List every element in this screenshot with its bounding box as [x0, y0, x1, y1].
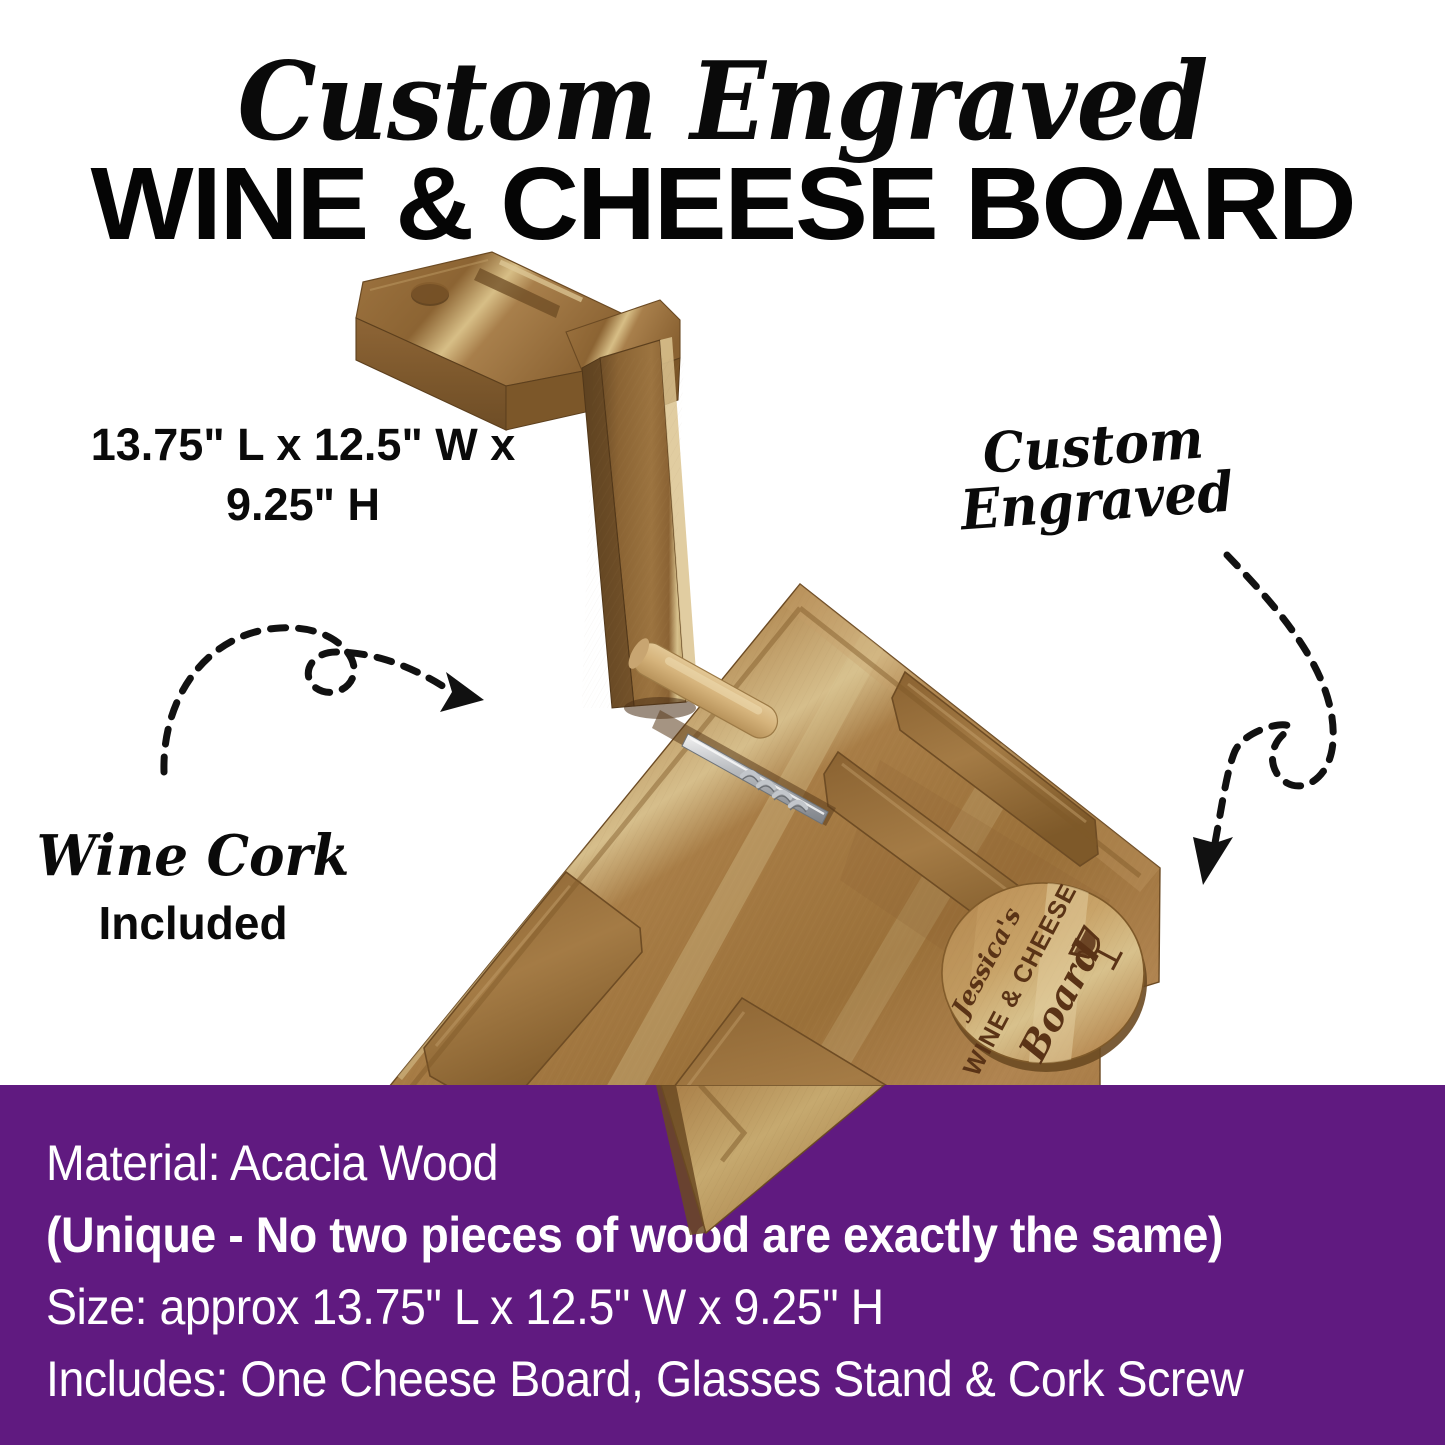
- header: Custom Engraved WINE & CHEESE BOARD: [0, 0, 1445, 250]
- curved-arrow-right-icon: [1185, 525, 1395, 925]
- footer-line: Size: approx 13.75" L x 12.5" W x 9.25" …: [46, 1271, 1311, 1343]
- footer-text-block: Material: Acacia Wood (Unique - No two p…: [46, 1127, 1406, 1415]
- product-details-footer: Material: Acacia Wood (Unique - No two p…: [0, 1085, 1445, 1445]
- footer-line: Includes: One Cheese Board, Glasses Stan…: [46, 1343, 1311, 1415]
- wine-glass-stand-post: [566, 300, 698, 708]
- curved-arrow-left-icon: [140, 600, 520, 820]
- wine-cork-callout-included: Included: [28, 900, 358, 946]
- wine-cork-callout-script: Wine Cork: [36, 828, 350, 884]
- page-script-title: Custom Engraved: [58, 48, 1387, 156]
- footer-line: Material: Acacia Wood: [46, 1127, 1311, 1199]
- dimension-note: 13.75" L x 12.5" W x 9.25" H: [58, 415, 548, 535]
- footer-line: (Unique - No two pieces of wood are exac…: [46, 1199, 1311, 1271]
